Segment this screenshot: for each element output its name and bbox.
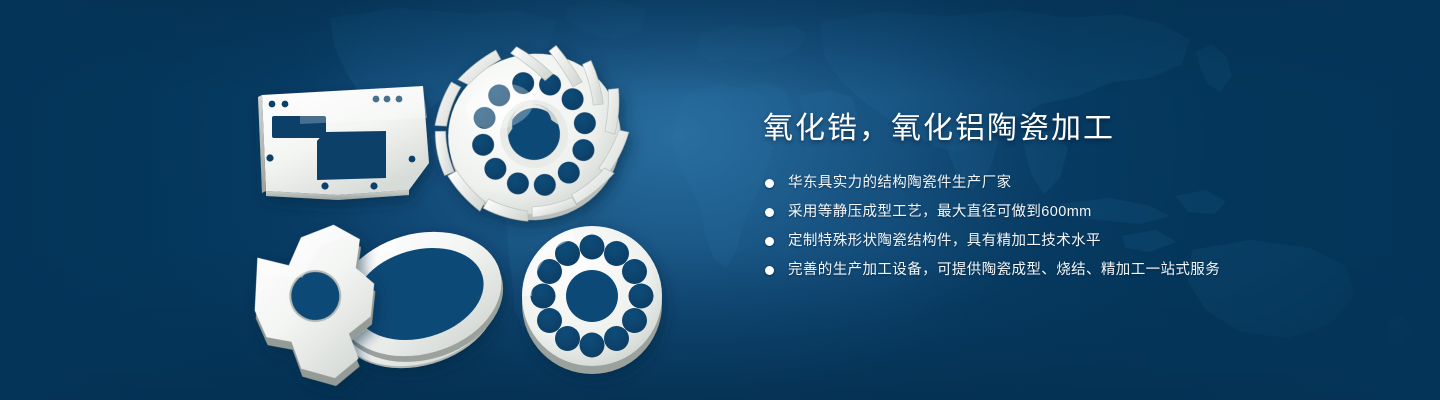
hero-banner: 氧化锆，氧化铝陶瓷加工 华东具实力的结构陶瓷件生产厂家 采用等静压成型工艺，最大… — [0, 0, 1440, 400]
product-photo-group — [0, 0, 720, 400]
product-ceramic-plate — [258, 86, 429, 200]
banner-headline: 氧化锆，氧化铝陶瓷加工 — [763, 108, 1383, 150]
feature-list: 华东具实力的结构陶瓷件生产厂家 采用等静压成型工艺，最大直径可做到600mm 定… — [765, 172, 1383, 281]
bullet-dot-icon — [765, 179, 774, 188]
list-item: 采用等静压成型工艺，最大直径可做到600mm — [765, 201, 1383, 223]
list-item: 完善的生产加工设备，可提供陶瓷成型、烧结、精加工一站式服务 — [765, 259, 1383, 281]
bullet-dot-icon — [765, 237, 774, 246]
product-ceramic-impeller — [419, 27, 643, 239]
bullet-dot-icon — [765, 208, 774, 217]
feature-text: 华东具实力的结构陶瓷件生产厂家 — [788, 172, 1012, 194]
banner-copy: 氧化锆，氧化铝陶瓷加工 华东具实力的结构陶瓷件生产厂家 采用等静压成型工艺，最大… — [763, 108, 1383, 281]
list-item: 华东具实力的结构陶瓷件生产厂家 — [765, 172, 1383, 194]
bullet-dot-icon — [765, 266, 774, 275]
feature-text: 完善的生产加工设备，可提供陶瓷成型、烧结、精加工一站式服务 — [788, 259, 1220, 281]
product-perforated-ring — [522, 226, 662, 374]
product-ceramic-cross-plate — [244, 220, 387, 395]
feature-text: 定制特殊形状陶瓷结构件，具有精加工技术水平 — [788, 230, 1101, 252]
list-item: 定制特殊形状陶瓷结构件，具有精加工技术水平 — [765, 230, 1383, 252]
feature-text: 采用等静压成型工艺，最大直径可做到600mm — [788, 201, 1092, 223]
